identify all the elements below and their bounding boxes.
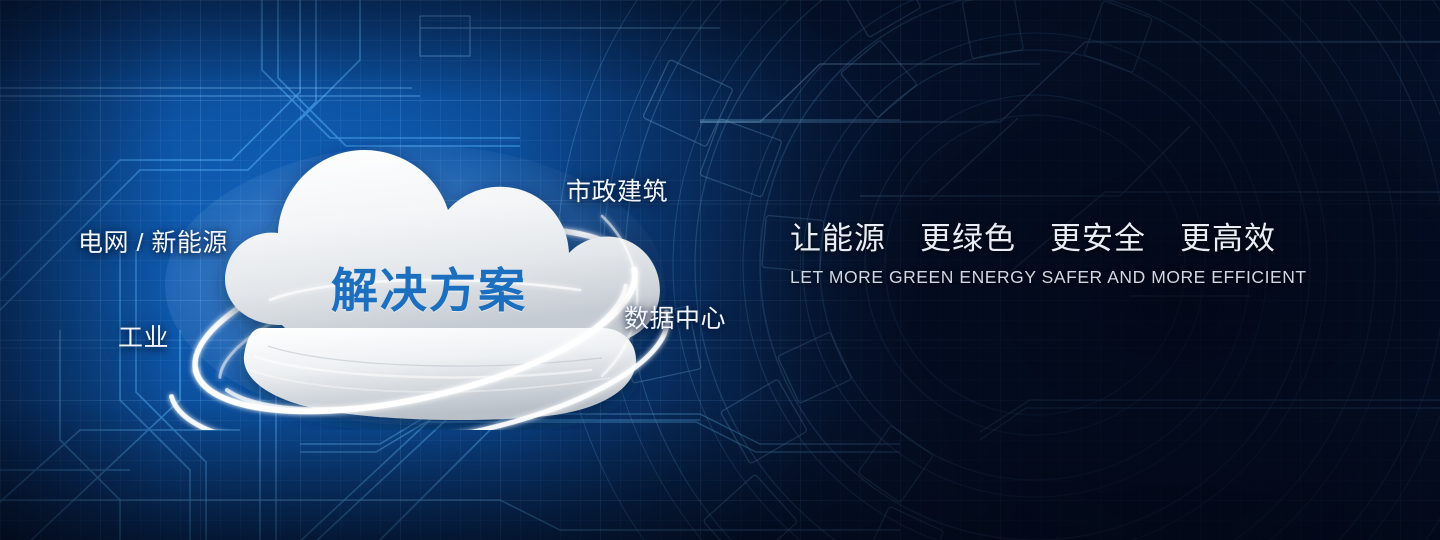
label-data-center: 数据中心 — [624, 299, 726, 335]
slogan-block: 让能源 更绿色 更安全 更高效 LET MORE GREEN ENERGY SA… — [790, 222, 1350, 288]
slogan-segment-2: 更绿色 — [920, 222, 1016, 256]
label-industry: 工业 — [118, 318, 169, 354]
slogan-segment-4: 更高效 — [1180, 222, 1276, 256]
label-grid-new-energy: 电网 / 新能源 — [78, 223, 228, 259]
hero-banner: 解决方案 电网 / 新能源 工业 市政建筑 数据中心 让能源 更绿色 更安全 更… — [0, 0, 1440, 540]
label-municipal: 市政建筑 — [566, 172, 668, 208]
slogan-subheadline: LET MORE GREEN ENERGY SAFER AND MORE EFF… — [790, 267, 1350, 288]
slogan-headline: 让能源 更绿色 更安全 更高效 — [790, 222, 1350, 256]
slogan-segment-1: 让能源 — [790, 222, 886, 256]
cloud-title: 解决方案 — [331, 252, 527, 321]
slogan-segment-3: 更安全 — [1050, 222, 1146, 256]
